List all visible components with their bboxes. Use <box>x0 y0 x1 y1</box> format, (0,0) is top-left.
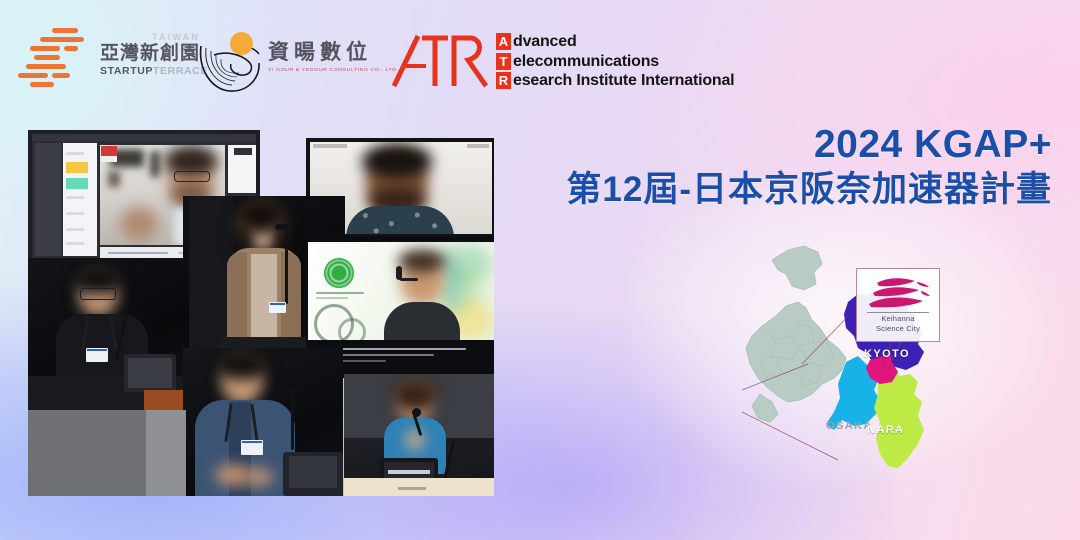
headline-line-2: 第12屆-日本京阪奈加速器計畫 <box>566 168 1052 212</box>
callout-title-line-2: Science City <box>857 324 939 334</box>
japan-map: KYOTO OSAKA NARA Keihanna Science City <box>742 244 1010 516</box>
atr-line-advanced: A dvanced <box>496 32 734 52</box>
keihanna-three-leaf-icon <box>865 276 931 310</box>
name-badge <box>269 302 286 313</box>
photo-gray-block-2 <box>146 410 186 496</box>
atr-word-advanced: dvanced <box>513 33 577 50</box>
region-honshu <box>746 302 846 402</box>
name-badge <box>86 348 108 362</box>
startup-terrace-wordmark: TAIWAN 亞灣新創園 STARTUPTERRACE <box>100 32 200 78</box>
callout-title-line-1: Keihanna <box>857 314 939 324</box>
sponsor-logo-bar: TAIWAN 亞灣新創園 STARTUPTERRACE <box>0 0 1080 112</box>
atr-wordmark: A dvanced T elecommunications R esearch … <box>496 32 734 91</box>
sun-circle-icon <box>230 32 253 55</box>
startup-terrace-english: STARTUPTERRACE <box>100 65 200 78</box>
name-badge <box>241 440 263 455</box>
logo-atr: A dvanced T elecommunications R esearch … <box>392 28 762 100</box>
photo-collage <box>28 130 494 496</box>
atr-initial-t: T <box>496 53 511 70</box>
keihanna-callout: Keihanna Science City <box>856 268 940 342</box>
region-hokkaido <box>772 246 822 290</box>
atr-line-telecommunications: T elecommunications <box>496 52 734 72</box>
map-label-nara: NARA <box>867 424 904 436</box>
photo-onstage-man-blue-shirt <box>183 348 343 496</box>
startup-terrace-chinese: 亞灣新創園 <box>100 42 200 65</box>
atr-word-research: esearch Institute International <box>513 72 734 89</box>
photo-gray-block <box>28 410 146 496</box>
photo-onstage-woman-blue-top <box>344 374 494 496</box>
atr-line-research: R esearch Institute International <box>496 71 734 91</box>
callout-divider <box>867 312 929 313</box>
orange-stair-bars-icon <box>18 28 96 94</box>
map-label-kyoto: KYOTO <box>864 348 910 360</box>
logo-ziyang-digital: 資暘數位 YI GOUR & YEGOUR CONSULTING CO., LT… <box>196 26 376 100</box>
callout-title: Keihanna Science City <box>857 314 939 334</box>
startup-terrace-english-bold: STARTUP <box>100 65 153 77</box>
logo-startup-terrace: TAIWAN 亞灣新創園 STARTUPTERRACE <box>18 28 198 98</box>
ziyang-wordmark: 資暘數位 YI GOUR & YEGOUR CONSULTING CO., LT… <box>268 40 398 74</box>
bowl-and-sun-icon <box>196 30 262 94</box>
map-label-osaka: OSAKA <box>826 420 873 432</box>
region-shikoku <box>752 394 778 422</box>
atr-initial-r: R <box>496 72 511 89</box>
photo-onstage-man-black-shirt <box>28 258 184 410</box>
atr-monogram-icon <box>392 30 490 92</box>
atr-initial-a: A <box>496 33 511 50</box>
startup-terrace-taiwan: TAIWAN <box>100 32 200 42</box>
ziyang-subtitle: YI GOUR & YEGOUR CONSULTING CO., LTD. <box>268 66 398 74</box>
poster-stage: TAIWAN 亞灣新創園 STARTUPTERRACE <box>0 0 1080 540</box>
atr-word-telecommunications: elecommunications <box>513 53 659 70</box>
headline-line-1: 2024 KGAP+ <box>566 122 1052 168</box>
ziyang-chinese: 資暘數位 <box>268 40 398 66</box>
poster-headline: 2024 KGAP+ 第12屆-日本京阪奈加速器計畫 <box>566 122 1052 212</box>
